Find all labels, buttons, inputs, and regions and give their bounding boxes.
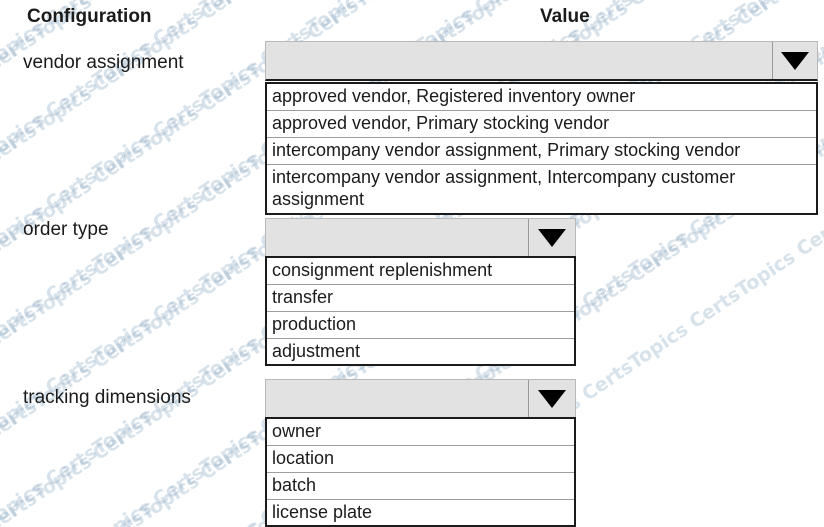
chevron-down-icon xyxy=(781,52,809,70)
row-label-vendor-assignment: vendor assignment xyxy=(23,52,184,74)
list-item[interactable]: adjustment xyxy=(267,339,574,365)
row-label-order-type: order type xyxy=(23,219,109,241)
list-item[interactable]: transfer xyxy=(267,285,574,312)
dropdown-order-type-value[interactable] xyxy=(266,219,528,256)
dropdown-list-vendor-assignment[interactable]: approved vendor, Registered inventory ow… xyxy=(265,82,818,215)
row-label-tracking-dimensions: tracking dimensions xyxy=(23,387,191,409)
dropdown-vendor-assignment-value[interactable] xyxy=(266,42,772,79)
list-item[interactable]: consignment replenishment xyxy=(267,258,574,285)
column-header-configuration: Configuration xyxy=(27,6,152,28)
list-item[interactable]: approved vendor, Primary stocking vendor xyxy=(267,111,816,138)
list-item[interactable]: batch xyxy=(267,473,574,500)
chevron-down-icon xyxy=(538,390,566,408)
list-item[interactable]: approved vendor, Registered inventory ow… xyxy=(267,84,816,111)
list-item[interactable]: owner xyxy=(267,419,574,446)
dropdown-vendor-assignment[interactable] xyxy=(265,41,818,81)
dropdown-order-type-toggle[interactable] xyxy=(528,219,575,256)
dropdown-tracking-dimensions-value[interactable] xyxy=(266,380,528,417)
dropdown-tracking-dimensions[interactable] xyxy=(265,379,576,419)
dropdown-tracking-dimensions-toggle[interactable] xyxy=(528,380,575,417)
dropdown-order-type[interactable] xyxy=(265,218,576,258)
dropdown-vendor-assignment-toggle[interactable] xyxy=(772,42,817,79)
list-item[interactable]: location xyxy=(267,446,574,473)
list-item[interactable]: intercompany vendor assignment, Primary … xyxy=(267,138,816,165)
column-header-value: Value xyxy=(540,6,590,28)
dropdown-list-order-type[interactable]: consignment replenishment transfer produ… xyxy=(265,256,576,366)
list-item[interactable]: production xyxy=(267,312,574,339)
dropdown-list-tracking-dimensions[interactable]: owner location batch license plate xyxy=(265,417,576,527)
list-item[interactable]: intercompany vendor assignment, Intercom… xyxy=(267,165,816,214)
list-item[interactable]: license plate xyxy=(267,500,574,526)
chevron-down-icon xyxy=(538,229,566,247)
question-canvas: CertsTopics CertsTopics CertsTopics Cert… xyxy=(0,0,824,527)
